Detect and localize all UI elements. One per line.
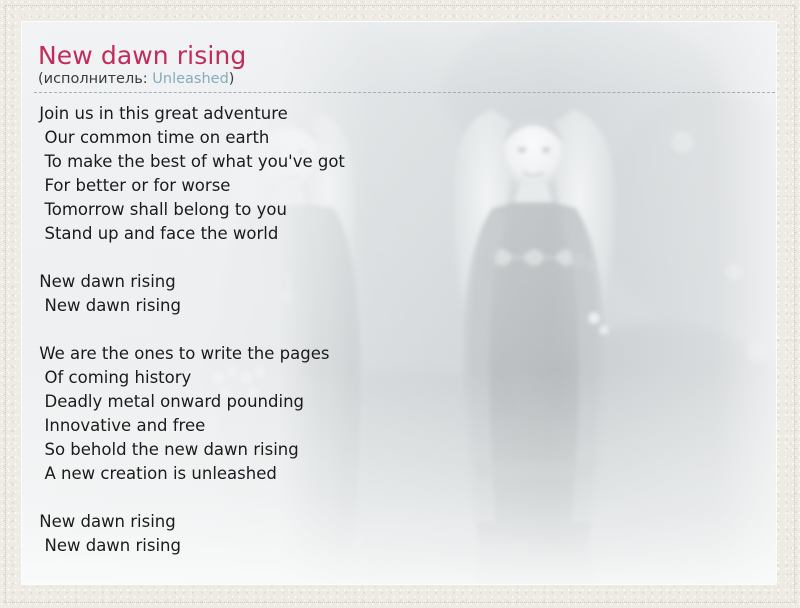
lyric-line: For better or for worse: [34, 174, 768, 198]
lyric-line: We are the ones to write the pages: [34, 342, 768, 366]
foreground-layer: New dawn rising (исполнитель: Unleashed)…: [22, 22, 776, 584]
lyric-line: Of coming history: [34, 366, 768, 390]
content-panel: New dawn rising (исполнитель: Unleashed)…: [22, 22, 776, 584]
lyric-line: Deadly metal onward pounding: [34, 390, 768, 414]
title-divider: [34, 92, 775, 93]
lyric-line: Innovative and free: [34, 414, 768, 438]
artist-suffix-label: ): [229, 71, 235, 87]
page-title: New dawn rising: [38, 43, 246, 69]
artist-line: (исполнитель: Unleashed): [38, 71, 234, 88]
lyric-line-blank: [34, 318, 768, 342]
lyric-line: New dawn rising: [34, 510, 768, 534]
lyric-line-blank: [34, 246, 768, 270]
artist-link[interactable]: Unleashed: [152, 71, 229, 87]
lyric-line: New dawn rising: [34, 294, 768, 318]
lyric-line: Our common time on earth: [34, 126, 768, 150]
lyric-line: A new creation is unleashed: [34, 462, 768, 486]
artist-prefix-label: (исполнитель:: [38, 71, 152, 87]
page-root: New dawn rising (исполнитель: Unleashed)…: [0, 0, 800, 608]
lyric-line: To make the best of what you've got: [34, 150, 768, 174]
lyric-line-blank: [34, 486, 768, 510]
lyric-line: Stand up and face the world: [34, 222, 768, 246]
lyrics-body: Join us in this great adventure Our comm…: [34, 102, 768, 558]
lyric-line: So behold the new dawn rising: [34, 438, 768, 462]
lyric-line: Tomorrow shall belong to you: [34, 198, 768, 222]
lyric-line: Join us in this great adventure: [34, 102, 768, 126]
lyric-line: New dawn rising: [34, 534, 768, 558]
lyric-line: New dawn rising: [34, 270, 768, 294]
